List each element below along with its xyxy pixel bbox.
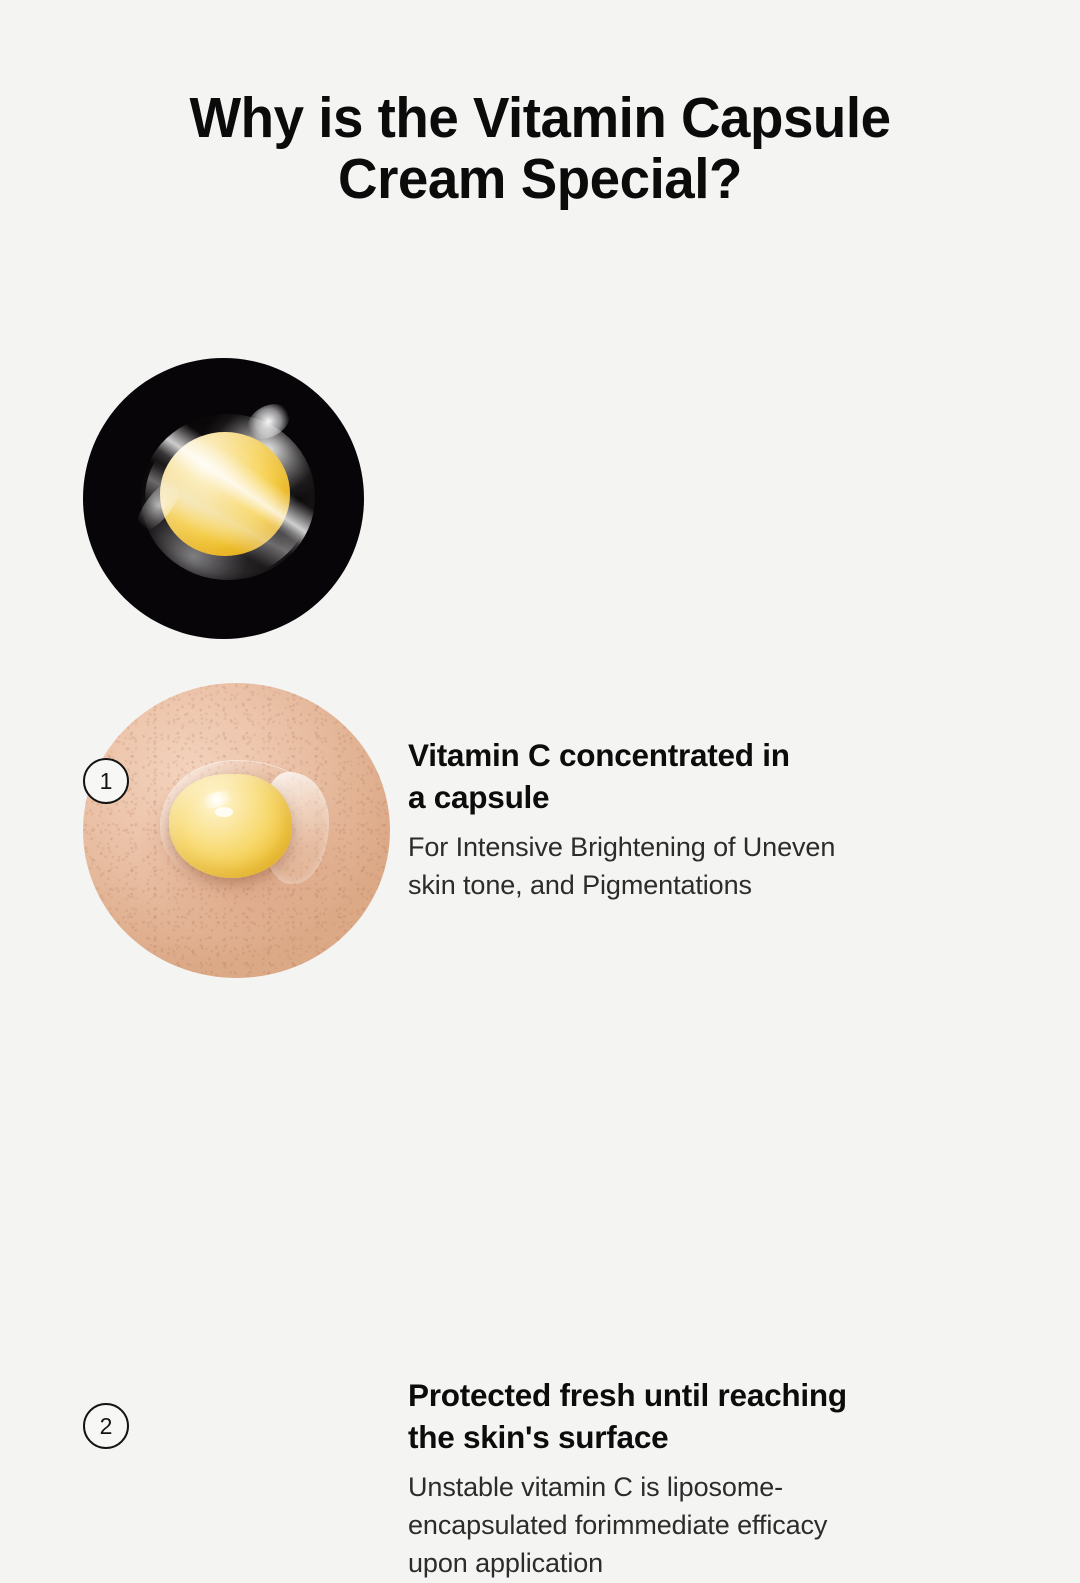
capsule-on-black-photo	[83, 358, 364, 639]
capsule-on-skin-photo	[83, 683, 390, 978]
feature-1-number: 1	[100, 770, 113, 793]
vitamin-gel-blob	[169, 774, 292, 877]
feature-2-number: 2	[100, 1415, 113, 1438]
feature-row-1: 1 Vitamin C concentrated in a capsule Fo…	[0, 358, 1080, 648]
page-title: Why is the Vitamin Capsule Cream Special…	[70, 88, 1011, 210]
infographic-page: Why is the Vitamin Capsule Cream Special…	[0, 0, 1080, 1080]
feature-2-image	[83, 683, 390, 978]
feature-2-body-line-1: Unstable vitamin C is liposome-	[408, 1468, 980, 1506]
feature-2-copy: Protected fresh until reaching the skin'…	[408, 1375, 980, 1583]
feature-1-image	[83, 358, 364, 639]
feature-row-2: 2 Protected fresh until reaching the ski…	[0, 683, 1080, 983]
feature-2-body-line-2: encapsulated forimmediate efficacy	[408, 1506, 980, 1544]
feature-2-body-line-3: upon application	[408, 1544, 980, 1582]
feature-2-heading: Protected fresh until reaching the skin'…	[408, 1375, 980, 1459]
feature-2-heading-line-1: Protected fresh until reaching	[408, 1375, 980, 1417]
page-title-line-2: Cream Special?	[70, 149, 1011, 210]
gel-secondary-highlight	[215, 807, 233, 817]
feature-2-heading-line-2: the skin's surface	[408, 1417, 980, 1459]
feature-1-number-badge: 1	[83, 758, 129, 804]
feature-2-number-badge: 2	[83, 1403, 129, 1449]
page-title-line-1: Why is the Vitamin Capsule	[70, 88, 1011, 149]
feature-2-body: Unstable vitamin C is liposome- encapsul…	[408, 1468, 980, 1583]
